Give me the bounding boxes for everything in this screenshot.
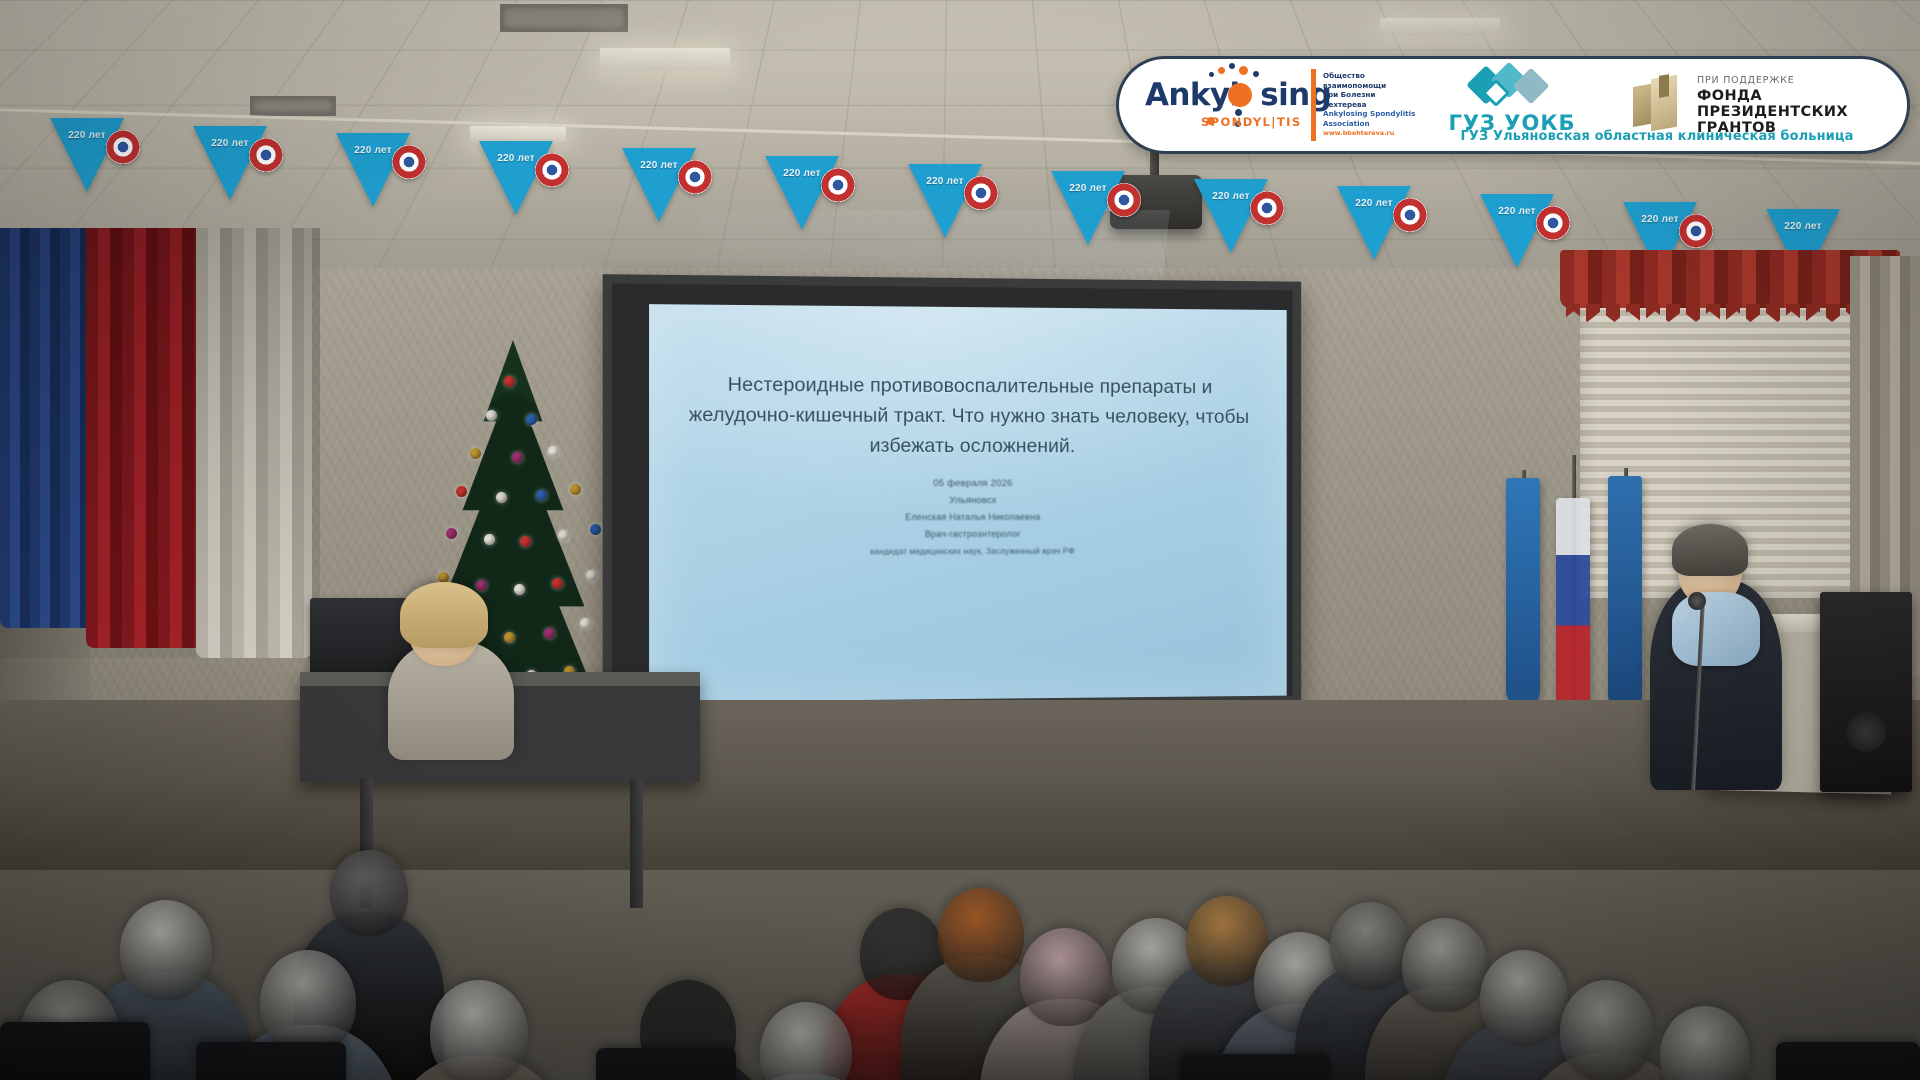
- audience-member-body: [1295, 965, 1445, 1080]
- tree-ornament: [520, 536, 531, 547]
- tree-ornament: [544, 628, 555, 639]
- slide-metadata: 05 февраля 2026 Ульяновск Еленская Натал…: [684, 475, 1254, 561]
- flag-russian-tricolor: [1556, 498, 1590, 718]
- audience-member-head: [860, 908, 944, 1000]
- audience-member-body: [386, 1056, 572, 1080]
- tree-ornament: [570, 484, 581, 495]
- bunting-emblem-icon: [1679, 214, 1713, 248]
- slide-author: Еленская Наталья Николаевна: [684, 509, 1254, 527]
- audience-member-body: [78, 972, 254, 1080]
- tree-ornament: [470, 448, 481, 459]
- audience-member-head: [1186, 896, 1268, 986]
- audience-member-body: [1365, 986, 1525, 1080]
- audience-member-head: [1402, 918, 1488, 1012]
- photo-scene: 220 лет220 лет220 лет220 лет220 лет220 л…: [0, 0, 1920, 1080]
- audience-member-body: [597, 1055, 779, 1080]
- bunting-emblem-icon: [964, 176, 998, 210]
- speaker-scarf: [1672, 592, 1760, 666]
- ank-ru-2: при Болезни Бехтерева: [1323, 90, 1419, 109]
- tree-ornament: [548, 446, 559, 457]
- tree-ornament: [580, 618, 591, 629]
- slide-city: Ульяновск: [684, 492, 1254, 509]
- auditorium-chair: [1180, 1054, 1330, 1080]
- speaker-cone: [1846, 712, 1886, 752]
- tree-ornament: [484, 534, 495, 545]
- bunting-emblem-icon: [392, 145, 426, 179]
- table-leg-right: [630, 778, 643, 908]
- spondyl-head: SPONDYL: [1201, 115, 1271, 129]
- tree-ornament: [456, 486, 467, 497]
- tree-ornament: [552, 578, 563, 589]
- slide-date: 05 февраля 2026: [684, 475, 1254, 492]
- ankylosing-orange-dot-icon: [1228, 83, 1252, 107]
- ceiling-light-1: [600, 48, 730, 70]
- tree-ornament: [536, 490, 547, 501]
- audience-member-head: [1020, 928, 1110, 1026]
- microphone: [1688, 592, 1706, 610]
- tree-ornament: [558, 530, 569, 541]
- audience-member-head: [640, 980, 736, 1080]
- slide-role: Врач-гастроэнтеролог: [684, 526, 1254, 544]
- audience-member-body: [718, 1074, 894, 1080]
- ank-ru-1: Общество взаимопомощи: [1323, 71, 1419, 90]
- audience-member-head: [1480, 950, 1568, 1046]
- ankylosing-wordmark-head: Ankyl: [1145, 77, 1240, 113]
- partner-banner: Ankylosing SPONDYL|TIS Общество взаимопо…: [1116, 56, 1910, 154]
- tree-ornament: [590, 524, 601, 535]
- ankylosing-divider-bar: [1311, 69, 1316, 141]
- audience-member-head: [1112, 918, 1200, 1014]
- ank-en-1: Ankylosing Spondylitis: [1323, 109, 1419, 119]
- presidential-grants-text: ПРИ ПОДДЕРЖКЕ ФОНДА ПРЕЗИДЕНТСКИХ ГРАНТО…: [1697, 75, 1881, 136]
- slide-credentials: кандидат медицинских наук, Заслуженный в…: [684, 542, 1254, 561]
- tree-ornament: [526, 414, 537, 425]
- flag-blue-right: [1608, 476, 1642, 712]
- slide-content: Нестероидные противовоспалительные препа…: [649, 369, 1287, 561]
- pa-speaker: [1820, 592, 1912, 792]
- audience-member-body: [0, 1059, 165, 1080]
- audience-member-head: [430, 980, 528, 1080]
- bunting-emblem-icon: [106, 130, 140, 164]
- audience-member-body: [823, 974, 981, 1080]
- audience-member-body: [216, 1025, 400, 1080]
- projection-screen-frame: Нестероидные противовоспалительные препа…: [603, 274, 1302, 712]
- ceiling-light-3: [1380, 18, 1500, 36]
- seated-woman-hair: [400, 582, 488, 648]
- guz-diamond-icon: [1466, 65, 1558, 109]
- auditorium-chair: [596, 1048, 736, 1080]
- audience-member-body: [1073, 987, 1239, 1080]
- bunting-emblem-icon: [821, 168, 855, 202]
- tree-ornament: [446, 528, 457, 539]
- audience-member-body: [1441, 1019, 1607, 1080]
- bunting-emblem-icon: [1250, 191, 1284, 225]
- spondyl-tail: TIS: [1277, 115, 1302, 129]
- audience-member-body: [294, 912, 444, 1080]
- flag-blue-left: [1506, 478, 1540, 708]
- curtain-white: [196, 228, 312, 658]
- tree-ornament: [514, 584, 525, 595]
- speaker-hair: [1672, 524, 1748, 576]
- bunting-emblem-icon: [1536, 206, 1570, 240]
- audience-member-head: [1254, 932, 1346, 1032]
- audience-member-head: [260, 950, 356, 1054]
- ankylosing-spondylitis-word: SPONDYL|TIS: [1201, 115, 1302, 129]
- tree-ornament: [496, 492, 507, 503]
- audience-member-body: [1213, 1004, 1387, 1080]
- bunting-emblem-icon: [535, 153, 569, 187]
- bunting-pennant-label: 220 лет: [1773, 221, 1833, 232]
- audience-member-head: [1660, 1006, 1750, 1080]
- audience-member-head: [1330, 902, 1410, 990]
- audience-member-body: [1619, 1077, 1791, 1080]
- ank-en-2: Association: [1323, 119, 1419, 129]
- audience-member-head: [1560, 980, 1654, 1080]
- tree-ornament: [504, 376, 515, 387]
- table-leg-left: [360, 778, 373, 908]
- ceiling-vent-1: [500, 4, 628, 32]
- auditorium-chair: [196, 1042, 346, 1080]
- presidential-grants-mark-icon: [1633, 75, 1685, 135]
- audience-member-head: [760, 1002, 852, 1080]
- pg-support-label: ПРИ ПОДДЕРЖКЕ: [1697, 75, 1881, 86]
- tree-ornament: [476, 580, 487, 591]
- bunting-emblem-icon: [249, 138, 283, 172]
- audience-member-body: [980, 999, 1150, 1080]
- audience-member-head: [20, 980, 120, 1080]
- audience-member-body: [1149, 961, 1305, 1080]
- curtain-blue: [0, 228, 96, 628]
- tree-ornament: [512, 452, 523, 463]
- presidential-grants-logo: ПРИ ПОДДЕРЖКЕ ФОНДА ПРЕЗИДЕНТСКИХ ГРАНТО…: [1633, 75, 1881, 136]
- projection-screen: Нестероидные противовоспалительные препа…: [649, 304, 1287, 702]
- tree-ornament: [586, 570, 597, 581]
- tree-ornament: [504, 632, 515, 643]
- curtain-red: [86, 228, 204, 648]
- tree-ornament: [486, 410, 497, 421]
- ankylosing-wordmark-tail: sing: [1260, 77, 1331, 113]
- bunting-emblem-icon: [1107, 183, 1141, 217]
- audience-member-head: [938, 888, 1024, 982]
- audience-member-body: [1517, 1053, 1697, 1080]
- auditorium-chair: [1776, 1042, 1920, 1080]
- window-valance: [1560, 250, 1900, 308]
- stage-floor: [0, 700, 1920, 870]
- hospital-name: ГУЗ Ульяновская областная клиническая бо…: [1397, 129, 1910, 144]
- slide-title: Нестероидные противовоспалительные препа…: [684, 369, 1254, 461]
- audience-member-body: [901, 956, 1061, 1080]
- auditorium-chair: [0, 1022, 150, 1080]
- banner-inner: Ankylosing SPONDYL|TIS Общество взаимопо…: [1119, 59, 1907, 151]
- audience-member-head: [120, 900, 212, 1000]
- ankylosing-logo: Ankylosing SPONDYL|TIS Общество взаимопо…: [1145, 63, 1395, 147]
